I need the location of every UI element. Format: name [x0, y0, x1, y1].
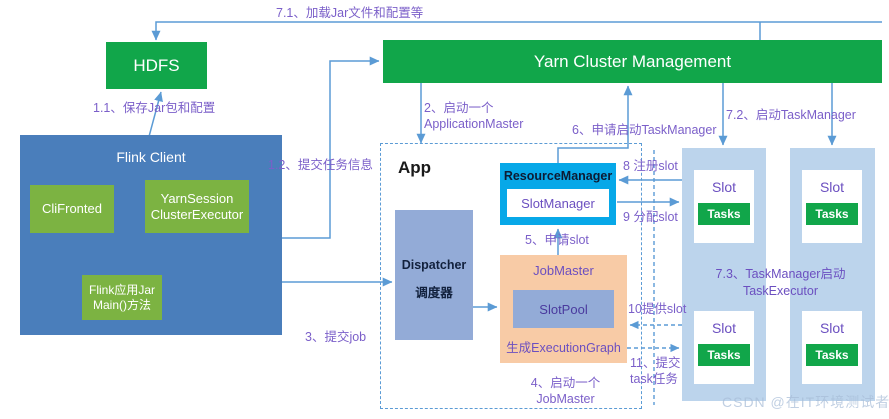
csdn-watermark: CSDN @在IT环境测试者 — [722, 392, 889, 412]
node-hdfs[interactable]: HDFS — [106, 42, 207, 89]
tasks-badge: Tasks — [698, 344, 750, 366]
node-flink-app-jar-main[interactable]: Flink应用Jar Main()方法 — [82, 275, 162, 320]
diagram-canvas: HDFS Yarn Cluster Management Flink Clien… — [0, 0, 889, 419]
step-label-1-1: 1.1、保存Jar包和配置 — [93, 100, 215, 116]
node-slotpool[interactable]: SlotPool — [513, 290, 614, 328]
slot-label: Slot — [694, 179, 754, 195]
step-label-8: 8 注册slot — [623, 158, 678, 174]
node-dispatcher[interactable]: Dispatcher 调度器 — [395, 210, 473, 340]
resourcemanager-title: ResourceManager — [500, 169, 616, 183]
step-label-7-2: 7.2、启动TaskManager — [726, 107, 856, 123]
slot[interactable]: Slot Tasks — [694, 311, 754, 384]
slot-label: Slot — [694, 320, 754, 336]
slot-label: Slot — [802, 179, 862, 195]
step-label-6: 6、申请启动TaskManager — [572, 122, 717, 138]
node-jobmaster[interactable]: JobMaster SlotPool 生成ExecutionGraph — [500, 255, 627, 363]
flink-client-title: Flink Client — [20, 149, 282, 165]
tasks-badge: Tasks — [698, 203, 750, 225]
app-label: App — [398, 155, 468, 181]
step-label-9: 9 分配slot — [623, 209, 678, 225]
step-label-4: 4、启动一个 JobMaster — [513, 375, 618, 408]
step-label-11: 11、提交 task任务 — [630, 355, 680, 388]
node-yarnsession-cluster-executor[interactable]: YarnSession ClusterExecutor — [145, 180, 249, 233]
dispatcher-subtitle: 调度器 — [395, 282, 473, 301]
step-label-3: 3、提交job — [305, 329, 366, 345]
node-yarn-cluster-management[interactable]: Yarn Cluster Management — [383, 40, 882, 83]
node-clifronted[interactable]: CliFronted — [30, 185, 114, 233]
execution-graph-label: 生成ExecutionGraph — [500, 337, 627, 356]
jobmaster-title: JobMaster — [500, 263, 627, 278]
node-slotmanager[interactable]: SlotManager — [507, 189, 609, 217]
slot[interactable]: Slot Tasks — [694, 170, 754, 243]
step-label-7-1: 7.1、加载Jar文件和配置等 — [276, 5, 423, 21]
slot[interactable]: Slot Tasks — [802, 170, 862, 243]
slot[interactable]: Slot Tasks — [802, 311, 862, 384]
step-label-5: 5、申请slot — [525, 232, 589, 248]
taskmanager-start-taskexecutor-label: 7.3、TaskManager启动 TaskExecutor — [688, 266, 873, 300]
step-label-2: 2、启动一个 ApplicationMaster — [424, 100, 523, 133]
slot-label: Slot — [802, 320, 862, 336]
step-label-10: 10提供slot — [628, 301, 686, 317]
node-resourcemanager[interactable]: ResourceManager SlotManager — [500, 163, 616, 225]
tasks-badge: Tasks — [806, 344, 858, 366]
dispatcher-title: Dispatcher — [395, 258, 473, 272]
tasks-badge: Tasks — [806, 203, 858, 225]
step-label-1-2: 1.2、提交任务信息 — [268, 157, 373, 173]
